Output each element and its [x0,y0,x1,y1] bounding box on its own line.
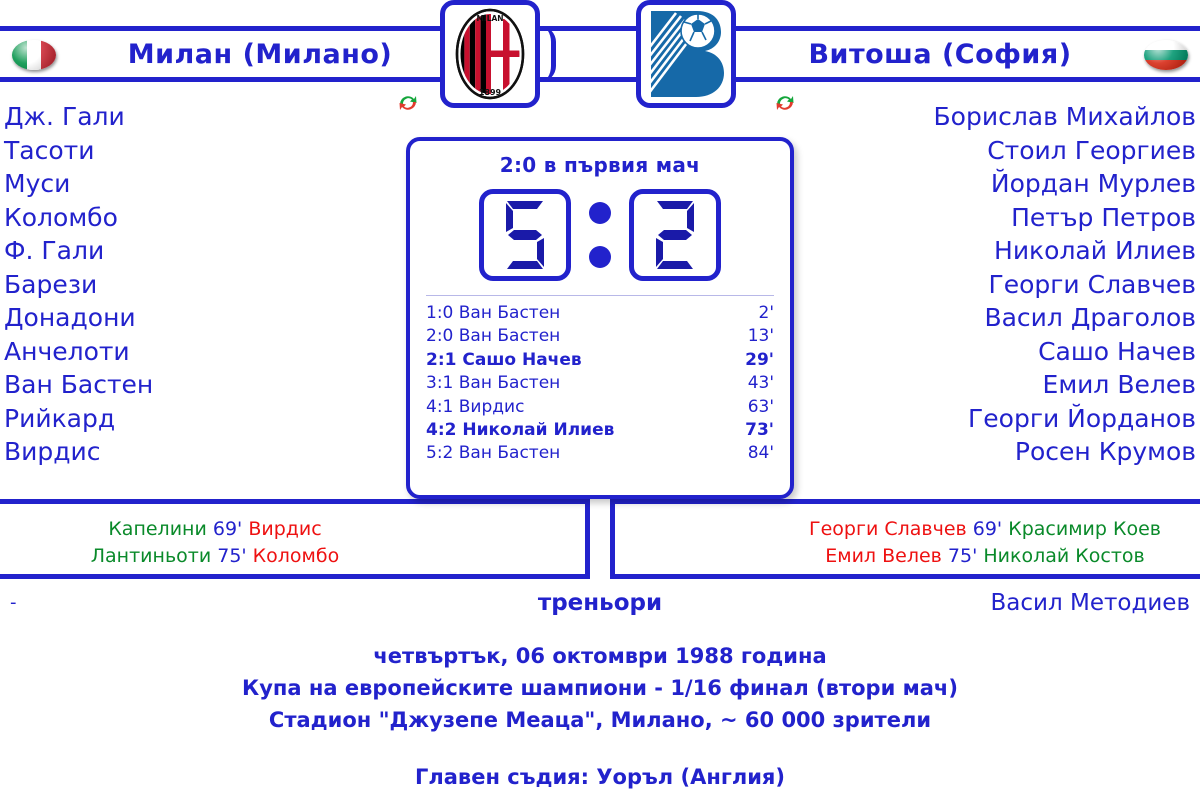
seven-segment-digit [497,195,553,275]
lineup-player: Дж. Гали [4,100,153,134]
match-referee: Главен съдия: Уоръл (Англия) [0,761,1200,793]
lineup-player: Ф. Гали [4,234,153,268]
goal-row: 5:2 Ван Бастен84' [426,442,774,465]
match-footer: четвъртък, 06 октомври 1988 година Купа … [0,640,1200,793]
goal-scorer: 4:1 Вирдис [426,396,524,419]
away-lineup-list: Борислав МихайловСтоил ГеоргиевЙордан Му… [934,100,1196,469]
goal-row: 2:1 Сашо Начев29' [426,349,774,372]
goal-row: 4:2 Николай Илиев73' [426,419,774,442]
vitosha-sofia-crest [636,0,736,108]
home-lineup-list: Дж. ГалиТасотиМусиКоломбоФ. ГалиБарезиДо… [4,100,153,469]
goal-minute: 2' [749,302,775,325]
substitution-minute: 75' [211,545,252,567]
substitutions-section: Капелини 69' ВирдисЛантиньоти 75' Коломб… [0,499,1200,579]
goal-scorer: 3:1 Ван Бастен [426,372,560,395]
substitution-minute: 75' [942,545,983,567]
substitution-swap-icon [772,90,798,116]
goal-row: 1:0 Ван Бастен2' [426,302,774,325]
substitute-out-player: Емил Велев [825,545,942,567]
lineup-player: Георги Славчев [934,268,1196,302]
svg-text:1899: 1899 [479,88,502,97]
substitution-minute: 69' [967,518,1008,540]
lineup-player: Донадони [4,301,153,335]
lineup-player: Емил Велев [934,368,1196,402]
substitute-in-player: Красимир Коев [1008,518,1161,540]
goal-minute: 43' [738,372,774,395]
substitution-row: Емил Велев 75' Николай Костов [615,543,1200,570]
away-score-display [629,189,721,281]
lineup-player: Вирдис [4,435,153,469]
substitution-row: Капелини 69' Вирдис [0,516,585,543]
match-competition: Купа на европейските шампиони - 1/16 фин… [0,672,1200,704]
match-report-page: Милан (Милано) Витоша (София) [0,0,1200,788]
home-score-display [479,189,571,281]
lineup-player: Николай Илиев [934,234,1196,268]
lineup-player: Рийкард [4,402,153,436]
lineup-player: Сашо Начев [934,335,1196,369]
home-substitutions-box: Капелини 69' ВирдисЛантиньоти 75' Коломб… [0,499,590,579]
ac-milan-crest: MILAN 1899 [440,0,540,108]
substitution-swap-icon [395,90,421,116]
substitute-out-player: Коломбо [253,545,340,567]
goal-scorer: 1:0 Ван Бастен [426,302,560,325]
goal-minute: 73' [735,419,774,442]
lineup-player: Тасоти [4,134,153,168]
lineup-player: Васил Драголов [934,301,1196,335]
substitute-out-player: Вирдис [248,518,321,540]
first-leg-aggregate-note: 2:0 в първия мач [410,153,790,177]
lineup-player: Муси [4,167,153,201]
score-separator-icon [589,202,611,268]
match-date: четвъртък, 06 октомври 1988 година [0,640,1200,672]
lineup-player: Йордан Мурлев [934,167,1196,201]
substitute-in-player: Лантиньоти [91,545,211,567]
lineup-player: Росен Крумов [934,435,1196,469]
score-row [410,189,790,281]
lineup-player: Коломбо [4,201,153,235]
goal-scorer: 2:0 Ван Бастен [426,325,560,348]
goal-minute: 63' [738,396,774,419]
away-substitutions-box: Георги Славчев 69' Красимир КоевЕмил Вел… [610,499,1200,579]
lineup-player: Борислав Михайлов [934,100,1196,134]
lineup-player: Барези [4,268,153,302]
goal-scorer: 2:1 Сашо Начев [426,349,582,372]
lineup-player: Петър Петров [934,201,1196,235]
goal-minute: 29' [735,349,774,372]
goal-list: 1:0 Ван Бастен2'2:0 Ван Бастен13'2:1 Саш… [426,295,774,466]
scoreboard-panel: 2:0 в първия мач 1:0 Ван Бастен2'2:0 Ван… [406,137,794,499]
goal-minute: 84' [738,442,774,465]
match-venue: Стадион "Джузепе Меаца", Милано, ~ 60 00… [0,704,1200,736]
substitution-minute: 69' [207,518,248,540]
away-coach-name: Васил Методиев [991,590,1191,616]
match-header: Милан (Милано) Витоша (София) [0,26,1200,82]
lineup-player: Анчелоти [4,335,153,369]
seven-segment-digit [647,195,703,275]
goal-row: 3:1 Ван Бастен43' [426,372,774,395]
svg-text:MILAN: MILAN [476,14,503,23]
substitution-row: Георги Славчев 69' Красимир Коев [615,516,1200,543]
substitute-in-player: Николай Костов [983,545,1144,567]
lineup-player: Стоил Георгиев [934,134,1196,168]
away-team-name: Витоша (София) [680,39,1200,70]
lineup-player: Георги Йорданов [934,402,1196,436]
goal-row: 2:0 Ван Бастен13' [426,325,774,348]
goal-minute: 13' [738,325,774,348]
goal-scorer: 5:2 Ван Бастен [426,442,560,465]
coaches-row: - треньори Васил Методиев [0,586,1200,626]
goal-row: 4:1 Вирдис63' [426,396,774,419]
goal-scorer: 4:2 Николай Илиев [426,419,614,442]
bulgaria-flag-icon [1144,40,1188,70]
substitution-row: Лантиньоти 75' Коломбо [0,543,585,570]
lineup-player: Ван Бастен [4,368,153,402]
substitute-in-player: Капелини [108,518,207,540]
substitute-out-player: Георги Славчев [809,518,967,540]
